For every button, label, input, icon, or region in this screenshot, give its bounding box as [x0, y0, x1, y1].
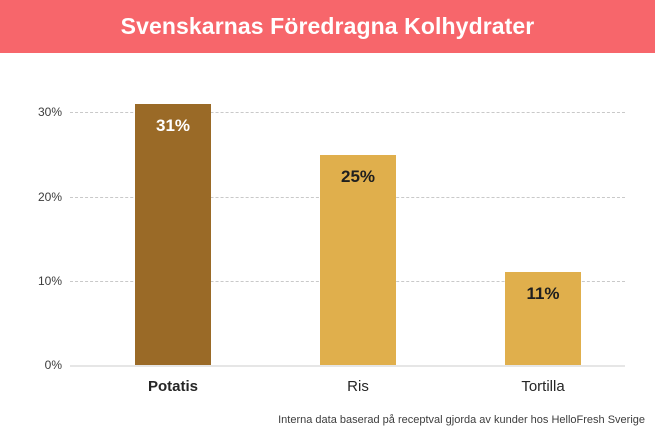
- bar-potatis[interactable]: 31%: [135, 104, 211, 365]
- page-title: Svenskarnas Föredragna Kolhydrater: [121, 13, 535, 40]
- title-banner: Svenskarnas Föredragna Kolhydrater: [0, 0, 655, 53]
- bar-value-label: 11%: [526, 284, 559, 304]
- x-axis-label-ris: Ris: [283, 378, 433, 395]
- bar-value-label: 31%: [156, 116, 190, 136]
- bar-value-label: 25%: [341, 167, 375, 187]
- y-axis-tick-label: 20%: [2, 190, 62, 204]
- plot-area: 0%10%20%30%31%Potatis25%Ris11%Tortilla: [0, 53, 655, 383]
- chart-page: Svenskarnas Föredragna Kolhydrater 0%10%…: [0, 0, 655, 437]
- axis-baseline: [70, 365, 625, 367]
- bar-ris[interactable]: 25%: [320, 155, 396, 365]
- x-axis-label-tortilla: Tortilla: [468, 378, 618, 395]
- y-axis-tick-label: 0%: [2, 358, 62, 372]
- y-axis-tick-label: 10%: [2, 274, 62, 288]
- footer-source-note: Interna data baserad på receptval gjorda…: [0, 414, 645, 426]
- y-axis-tick-label: 30%: [2, 105, 62, 119]
- x-axis-label-potatis: Potatis: [98, 378, 248, 395]
- bar-tortilla[interactable]: 11%: [505, 272, 581, 365]
